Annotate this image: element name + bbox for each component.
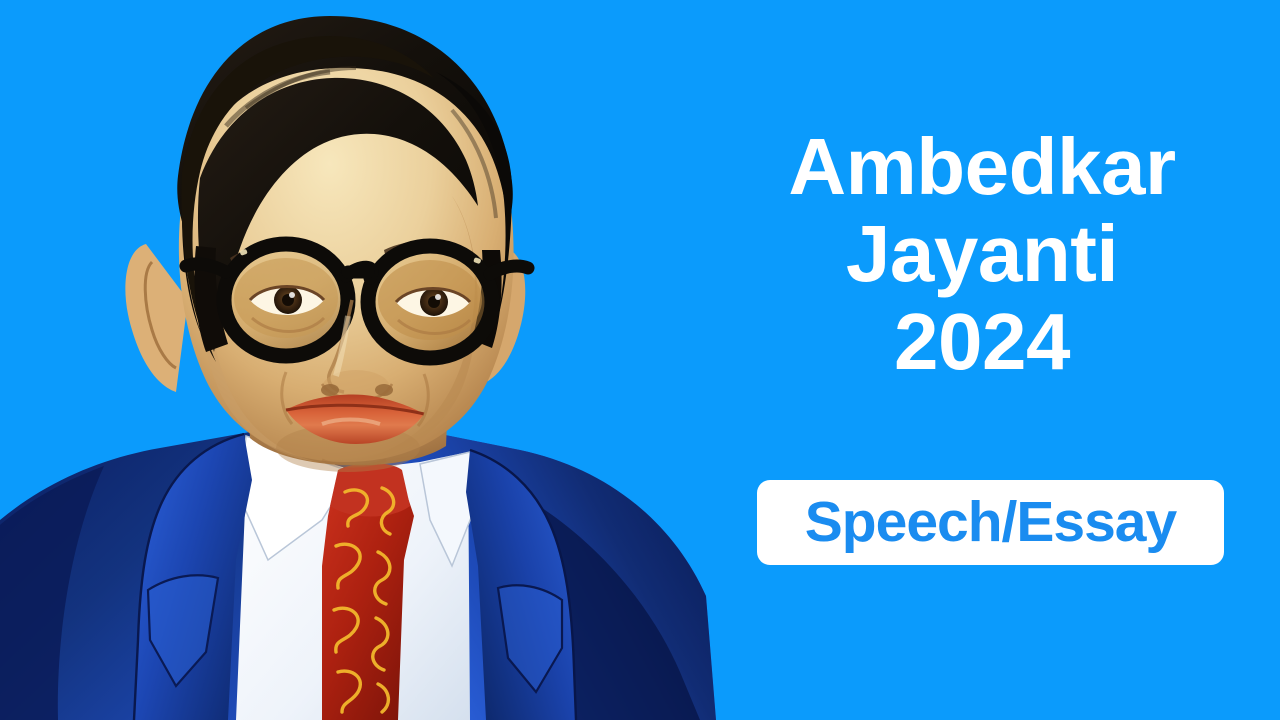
poster-canvas: Ambedkar Jayanti 2024 Speech/Essay	[0, 0, 1280, 720]
headline-line-3: 2024	[752, 303, 1212, 381]
ambedkar-portrait-image	[0, 0, 740, 720]
headline-line-2: Jayanti	[752, 215, 1212, 293]
speech-essay-badge: Speech/Essay	[757, 480, 1224, 565]
headline-line-1: Ambedkar	[752, 128, 1212, 206]
badge-label: Speech/Essay	[805, 494, 1176, 551]
poster-headline: Ambedkar Jayanti 2024	[752, 128, 1212, 381]
